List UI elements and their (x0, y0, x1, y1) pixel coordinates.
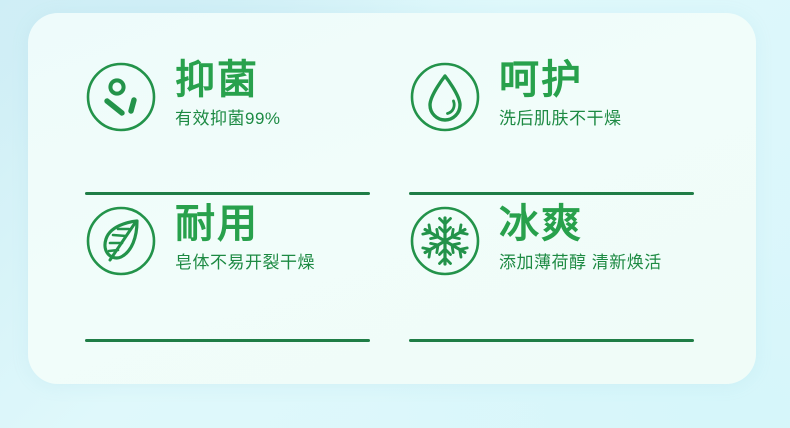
feature-texts: 抑菌 有效抑菌99% (157, 57, 281, 130)
feature-subtitle: 洗后肌肤不干燥 (499, 109, 622, 129)
water-drop-icon (409, 61, 481, 133)
feature-divider (85, 192, 370, 195)
leaf-icon (85, 205, 157, 277)
feature-title: 呵护 (499, 59, 622, 102)
feature-title: 抑菌 (175, 59, 281, 102)
feature-texts: 冰爽 添加薄荷醇 清新焕活 (481, 201, 662, 274)
feature-panel: 抑菌 有效抑菌99% 呵护 洗后肌肤不干燥 (28, 13, 756, 384)
feature-subtitle: 有效抑菌99% (175, 109, 281, 129)
feature-title: 耐用 (175, 203, 315, 246)
bacteria-icon (85, 61, 157, 133)
snowflake-icon (409, 205, 481, 277)
feature-card-cooling[interactable]: 冰爽 添加薄荷醇 清新焕活 (392, 201, 716, 345)
feature-grid: 抑菌 有效抑菌99% 呵护 洗后肌肤不干燥 (28, 13, 756, 384)
feature-divider (85, 339, 370, 342)
feature-divider (409, 339, 694, 342)
feature-texts: 耐用 皂体不易开裂干燥 (157, 201, 315, 274)
feature-card-care[interactable]: 呵护 洗后肌肤不干燥 (392, 57, 716, 201)
feature-texts: 呵护 洗后肌肤不干燥 (481, 57, 622, 130)
feature-subtitle: 皂体不易开裂干燥 (175, 253, 315, 273)
feature-divider (409, 192, 694, 195)
feature-card-antibacterial[interactable]: 抑菌 有效抑菌99% (68, 57, 392, 201)
feature-card-durable[interactable]: 耐用 皂体不易开裂干燥 (68, 201, 392, 345)
feature-title: 冰爽 (499, 203, 662, 246)
feature-subtitle: 添加薄荷醇 清新焕活 (499, 253, 662, 273)
